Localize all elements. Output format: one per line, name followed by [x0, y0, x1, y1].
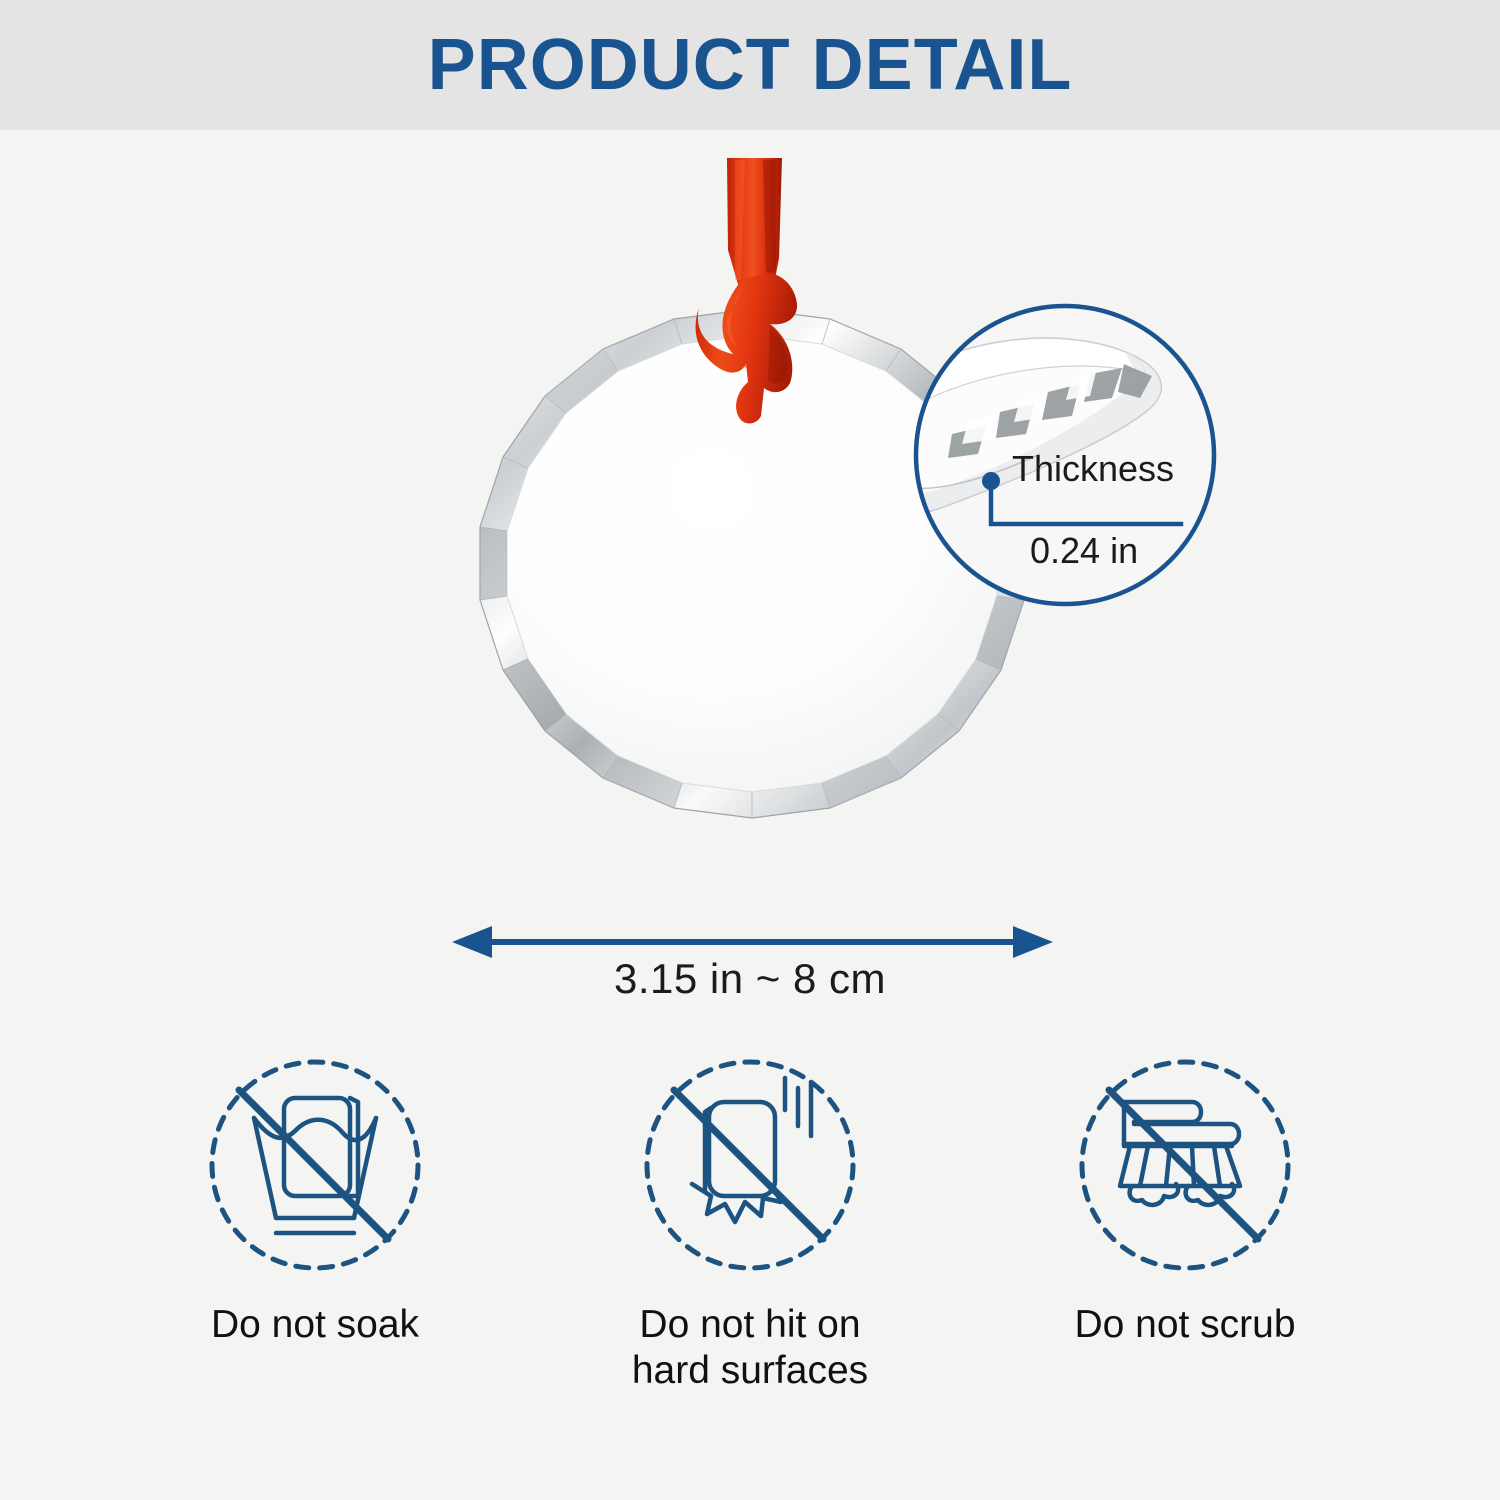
width-dimension-label: 3.15 in ~ 8 cm: [0, 955, 1500, 1003]
content-stage: Thickness 0.24 in 3.15 in ~ 8 cm: [0, 130, 1500, 1500]
care-item-no-scrub: Do not scrub: [970, 1050, 1400, 1394]
no-scrub-icon: [1070, 1050, 1300, 1280]
thickness-label: Thickness: [1012, 448, 1174, 490]
product-figure: Thickness 0.24 in: [0, 130, 1500, 1030]
care-label: Do not hit on hard surfaces: [632, 1302, 868, 1394]
care-item-no-soak: Do not soak: [100, 1050, 530, 1394]
header-band: PRODUCT DETAIL: [0, 0, 1500, 130]
care-instructions-row: Do not soak: [100, 1050, 1400, 1394]
thickness-value: 0.24 in: [1030, 530, 1138, 572]
width-dimension-arrow: [452, 926, 1053, 958]
no-soak-icon: [200, 1050, 430, 1280]
page-title: PRODUCT DETAIL: [428, 29, 1073, 101]
care-label: Do not soak: [211, 1302, 419, 1348]
product-illustration: [0, 130, 1500, 1030]
care-item-no-hit: Do not hit on hard surfaces: [535, 1050, 965, 1394]
care-label: Do not scrub: [1074, 1302, 1295, 1348]
no-hit-hard-surface-icon: [635, 1050, 865, 1280]
